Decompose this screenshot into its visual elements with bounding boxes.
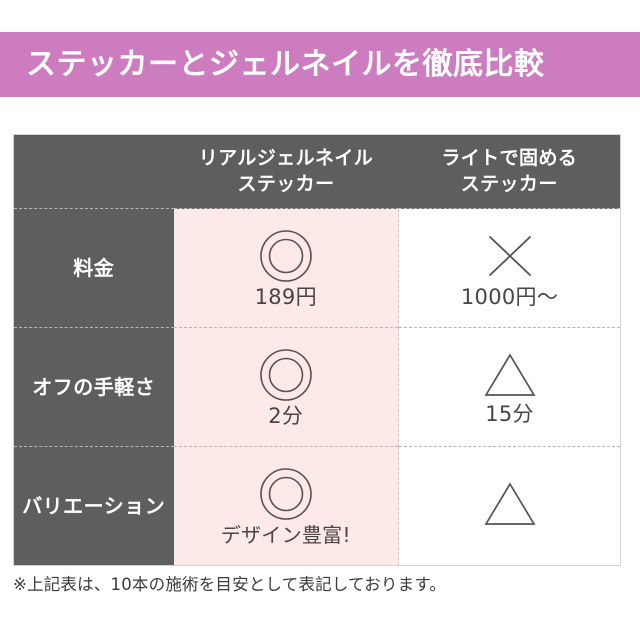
double-circle-mark-icon xyxy=(259,467,313,521)
cell-caption: 2分 xyxy=(268,406,303,427)
row-label-variation: バリエーション xyxy=(14,447,174,566)
cross-mark-icon xyxy=(483,229,537,283)
cell-price-gel-sticker: 189円 xyxy=(174,209,399,328)
triangle-mark-icon xyxy=(482,350,538,400)
table-row: 料金 189円 xyxy=(14,209,621,328)
column-header-gel-sticker: リアルジェルネイル ステッカー xyxy=(174,135,399,209)
table-header-row: リアルジェルネイル ステッカー ライトで固める ステッカー xyxy=(14,135,621,209)
mark-stack: デザイン豊富! xyxy=(174,467,399,545)
column-header-gel-sticker-line1: リアルジェルネイル xyxy=(199,147,373,169)
comparison-table: リアルジェルネイル ステッカー ライトで固める ステッカー 料金 xyxy=(13,134,621,566)
double-circle-mark-icon xyxy=(259,348,313,402)
double-circle-mark-icon xyxy=(259,229,313,283)
cell-variation-light-sticker xyxy=(399,447,621,566)
cell-price-light-sticker: 1000円～ xyxy=(399,209,621,328)
cell-caption: デザイン豊富! xyxy=(221,525,351,545)
mark-stack: 189円 xyxy=(174,229,399,308)
header-blank-cell xyxy=(14,135,174,209)
column-header-light-sticker-line2: ステッカー xyxy=(399,172,621,197)
row-label-removal-ease: オフの手軽さ xyxy=(14,328,174,447)
mark-stack: 15分 xyxy=(399,350,620,425)
cell-removal-ease-gel-sticker: 2分 xyxy=(174,328,399,447)
mark-stack: 1000円～ xyxy=(399,229,620,308)
comparison-table-wrapper: リアルジェルネイル ステッカー ライトで固める ステッカー 料金 xyxy=(13,134,620,565)
cell-variation-gel-sticker: デザイン豊富! xyxy=(174,447,399,566)
cell-caption: 1000円～ xyxy=(461,287,558,308)
triangle-mark-icon xyxy=(482,479,538,529)
comparison-infographic: ステッカーとジェルネイルを徹底比較 リアルジェルネイル ステッカー ライトで固 xyxy=(0,0,640,630)
column-header-gel-sticker-line2: ステッカー xyxy=(174,172,399,197)
column-header-light-sticker: ライトで固める ステッカー xyxy=(399,135,621,209)
table-row: オフの手軽さ 2分 xyxy=(14,328,621,447)
column-header-light-sticker-line1: ライトで固める xyxy=(441,147,577,169)
row-label-price: 料金 xyxy=(14,209,174,328)
mark-stack xyxy=(399,479,620,533)
page-title: ステッカーとジェルネイルを徹底比較 xyxy=(26,50,545,80)
footnote-text: ※上記表は、10本の施術を目安として表記しております。 xyxy=(13,575,446,595)
cell-caption: 15分 xyxy=(485,404,534,425)
mark-stack: 2分 xyxy=(174,348,399,427)
table-row: バリエーション デザイン豊富! xyxy=(14,447,621,566)
title-banner: ステッカーとジェルネイルを徹底比較 xyxy=(0,32,640,97)
cell-caption: 189円 xyxy=(255,287,317,308)
cell-removal-ease-light-sticker: 15分 xyxy=(399,328,621,447)
